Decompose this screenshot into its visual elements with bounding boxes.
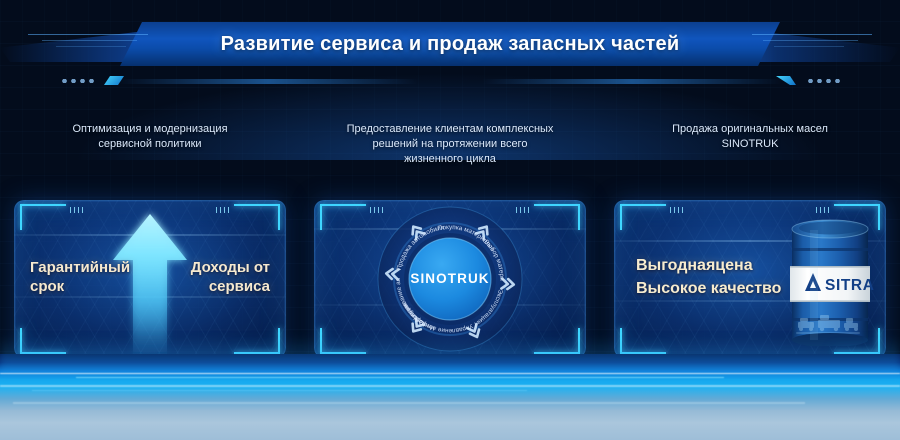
caption-line: Предоставление клиентам комплексных [347,122,554,137]
floor-streak-lines [0,354,900,440]
column-1-caption: Оптимизация и модернизация сервисной пол… [0,118,300,190]
slide-root: Развитие сервиса и продаж запасных часте… [0,0,900,440]
caption-line: Продажа оригинальных масел [672,122,828,137]
caption-line: сервисной политики [98,137,201,152]
oil-drum-icon: SITRAK [786,214,874,346]
caption-line: решений на протяжении всего [373,137,528,152]
title-banner: Развитие сервиса и продаж запасных часте… [0,22,900,66]
panel-lifecycle-solutions[interactable]: Продажа автомобиля Покупка материалов Вы… [314,200,586,358]
banner-dots-right-icon [806,79,840,83]
column-3-caption: Продажа оригинальных масел SINOTRUK [600,118,900,190]
column-2-caption: Предоставление клиентам комплексных реше… [300,118,600,190]
column-service-policy: Оптимизация и модернизация сервисной пол… [0,118,300,368]
page-title: Развитие сервиса и продаж запасных часте… [0,22,900,66]
headline-line-quality: Высокое качество [636,277,781,300]
column-original-oils: Продажа оригинальных масел SINOTRUK Выго… [600,118,900,368]
caption-line: жизненного цикла [404,152,496,167]
banner-rail-left [118,79,418,84]
label-service-income: Доходы от сервиса [174,258,270,296]
banner-dots-left-icon [60,79,94,83]
arrow-labels: Гарантийный срок Доходы от сервиса [14,258,286,296]
caption-line: Оптимизация и модернизация [72,122,227,137]
bottom-speed-streaks [0,354,900,440]
headline-line-price: Выгоднаяцена [636,254,781,277]
caption-line: SINOTRUK [722,137,779,152]
column-lifecycle-solutions: Предоставление клиентам комплексных реше… [300,118,600,368]
panel-original-oils[interactable]: Выгоднаяцена Высокое качество [614,200,886,358]
product-headline: Выгоднаяцена Высокое качество [636,254,781,300]
label-warranty-period: Гарантийный срок [30,258,126,296]
banner-rail-right [482,79,782,84]
cycle-center-label: SINOTRUK [410,271,489,286]
product-brand-label: SITRAK [825,277,874,294]
cycle-arrows-icon: Продажа автомобиля Покупка материалов Вы… [376,205,524,353]
columns-container: Оптимизация и модернизация сервисной пол… [0,118,900,368]
panel-service-policy[interactable]: Гарантийный срок Доходы от сервиса [14,200,286,358]
